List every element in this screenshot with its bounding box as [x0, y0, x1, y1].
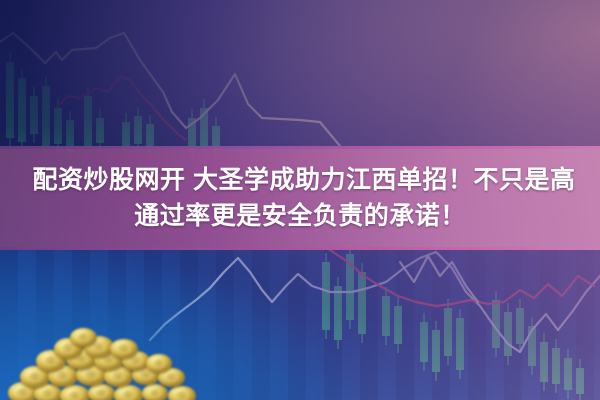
gold-coin [114, 385, 143, 400]
gold-coin [110, 339, 138, 359]
gold-coin [146, 354, 172, 373]
headline-line-2: 通过率更是安全负责的承诺！ [134, 200, 466, 232]
gold-coin [60, 385, 90, 400]
gold-coin-pile [0, 338, 209, 400]
promo-banner-image: 配资炒股网开 大圣学成助力江西单招！不只是高 通过率更是安全负责的承诺！ [0, 0, 600, 400]
gold-coin [168, 386, 196, 400]
headline-text-block: 配资炒股网开 大圣学成助力江西单招！不只是高 通过率更是安全负责的承诺！ [0, 146, 600, 250]
gold-coin [70, 328, 97, 347]
headline-line-1: 配资炒股网开 大圣学成助力江西单招！不只是高 [25, 164, 576, 196]
gold-coin [142, 384, 168, 400]
gold-coin [88, 384, 115, 400]
